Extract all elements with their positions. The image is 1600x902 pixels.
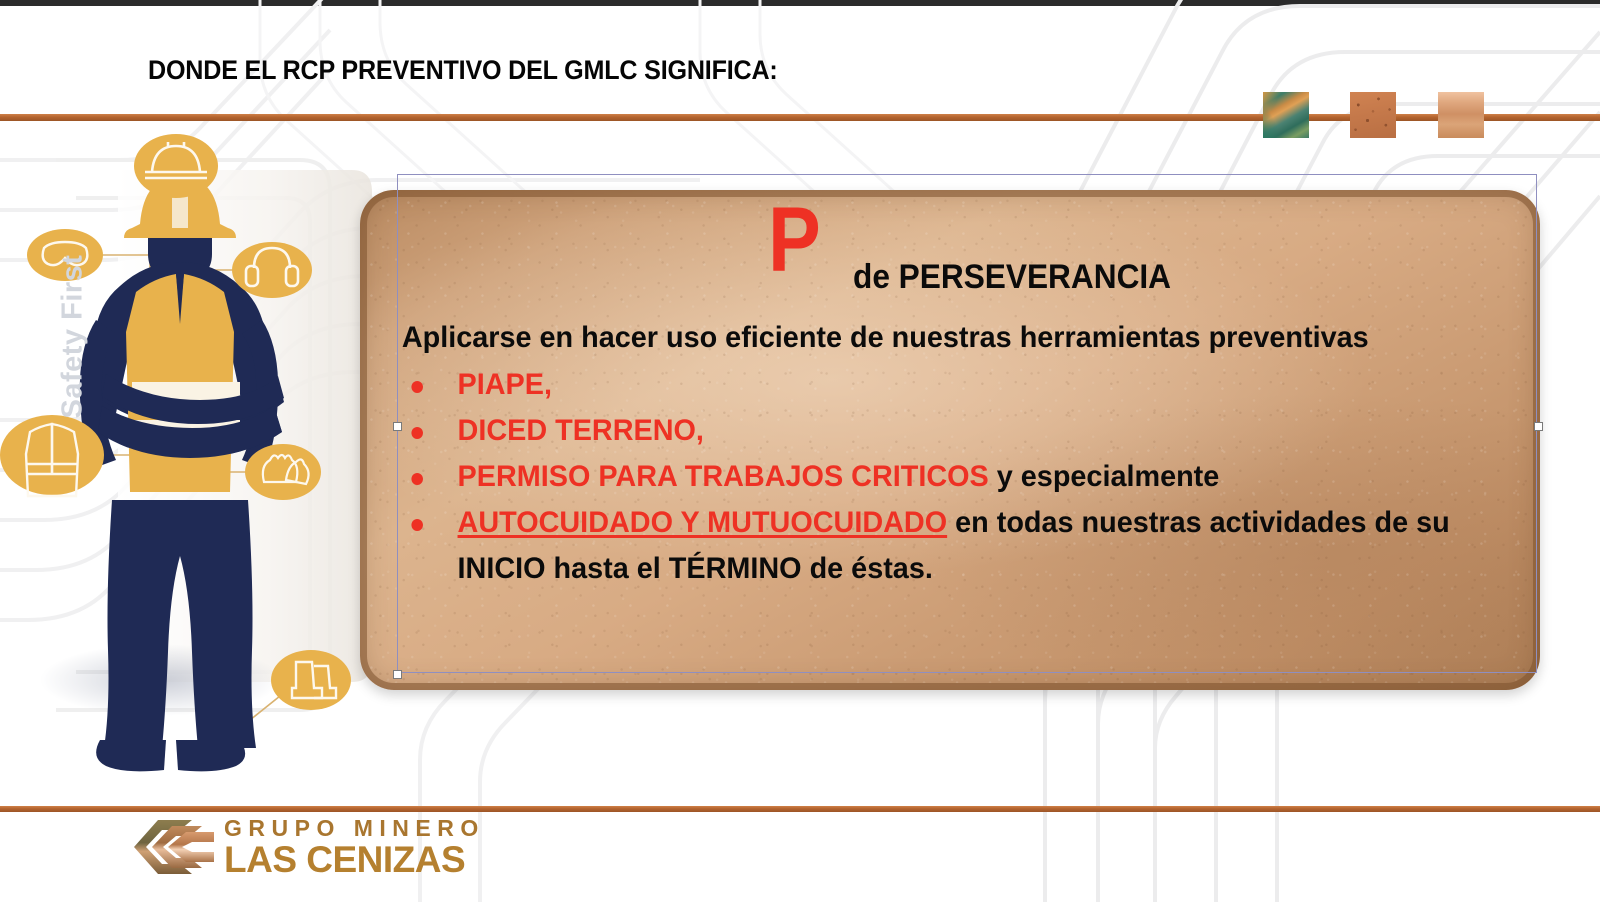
panel-heading: P de PERSEVERANCIA — [398, 196, 1536, 316]
logo-wordmark: GRUPO MINERO LAS CENIZAS — [224, 816, 485, 878]
panel-lead-text: Aplicarse en hacer uso eficiente de nues… — [398, 316, 1534, 360]
panel-content: P de PERSEVERANCIA Aplicarse en hacer us… — [398, 196, 1536, 676]
list-item: PERMISO PARA TRABAJOS CRITICOS y especia… — [398, 454, 1534, 500]
malachite-ore-chip — [1263, 92, 1309, 138]
copper-metal-chip — [1438, 92, 1484, 138]
logo-line-grupo-minero: GRUPO MINERO — [224, 816, 485, 841]
preventive-tools-list: PIAPE, DICED TERRENO, PERMISO PARA TRABA… — [398, 362, 1536, 592]
big-letter-p: P — [768, 194, 821, 286]
list-item: DICED TERRENO, — [398, 408, 1534, 454]
top-dark-strip — [0, 0, 1600, 6]
safety-illustration: Safety First — [0, 120, 380, 810]
logo-line-las-cenizas: LAS CENIZAS — [224, 841, 485, 878]
bullet-black-text: y especialmente — [989, 460, 1220, 493]
company-logo: GRUPO MINERO LAS CENIZAS — [132, 812, 552, 882]
hard-hat-icon — [134, 134, 218, 198]
list-item: AUTOCUIDADO Y MUTUOCUIDADO en todas nues… — [398, 500, 1534, 592]
bullet-red-text: PIAPE, — [458, 368, 552, 401]
slide-canvas: DONDE EL RCP PREVENTIVO DEL GMLC SIGNIFI… — [0, 0, 1600, 902]
bullet-red-text: PERMISO PARA TRABAJOS CRITICOS — [458, 460, 989, 493]
safety-first-watermark: Safety First — [57, 222, 90, 452]
perseverancia-label: de PERSEVERANCIA — [853, 258, 1171, 297]
list-item: PIAPE, — [398, 362, 1534, 408]
ear-protection-icon — [232, 242, 312, 298]
bullet-red-underlined-text: AUTOCUIDADO Y MUTUOCUIDADO — [458, 506, 948, 539]
bullet-red-text: DICED TERRENO, — [458, 414, 704, 447]
chevron-c-logo-icon — [132, 818, 218, 876]
copper-ore-chip — [1350, 92, 1396, 138]
safety-boots-icon — [271, 650, 351, 710]
page-title: DONDE EL RCP PREVENTIVO DEL GMLC SIGNIFI… — [148, 55, 778, 86]
safety-gloves-icon — [245, 444, 321, 500]
